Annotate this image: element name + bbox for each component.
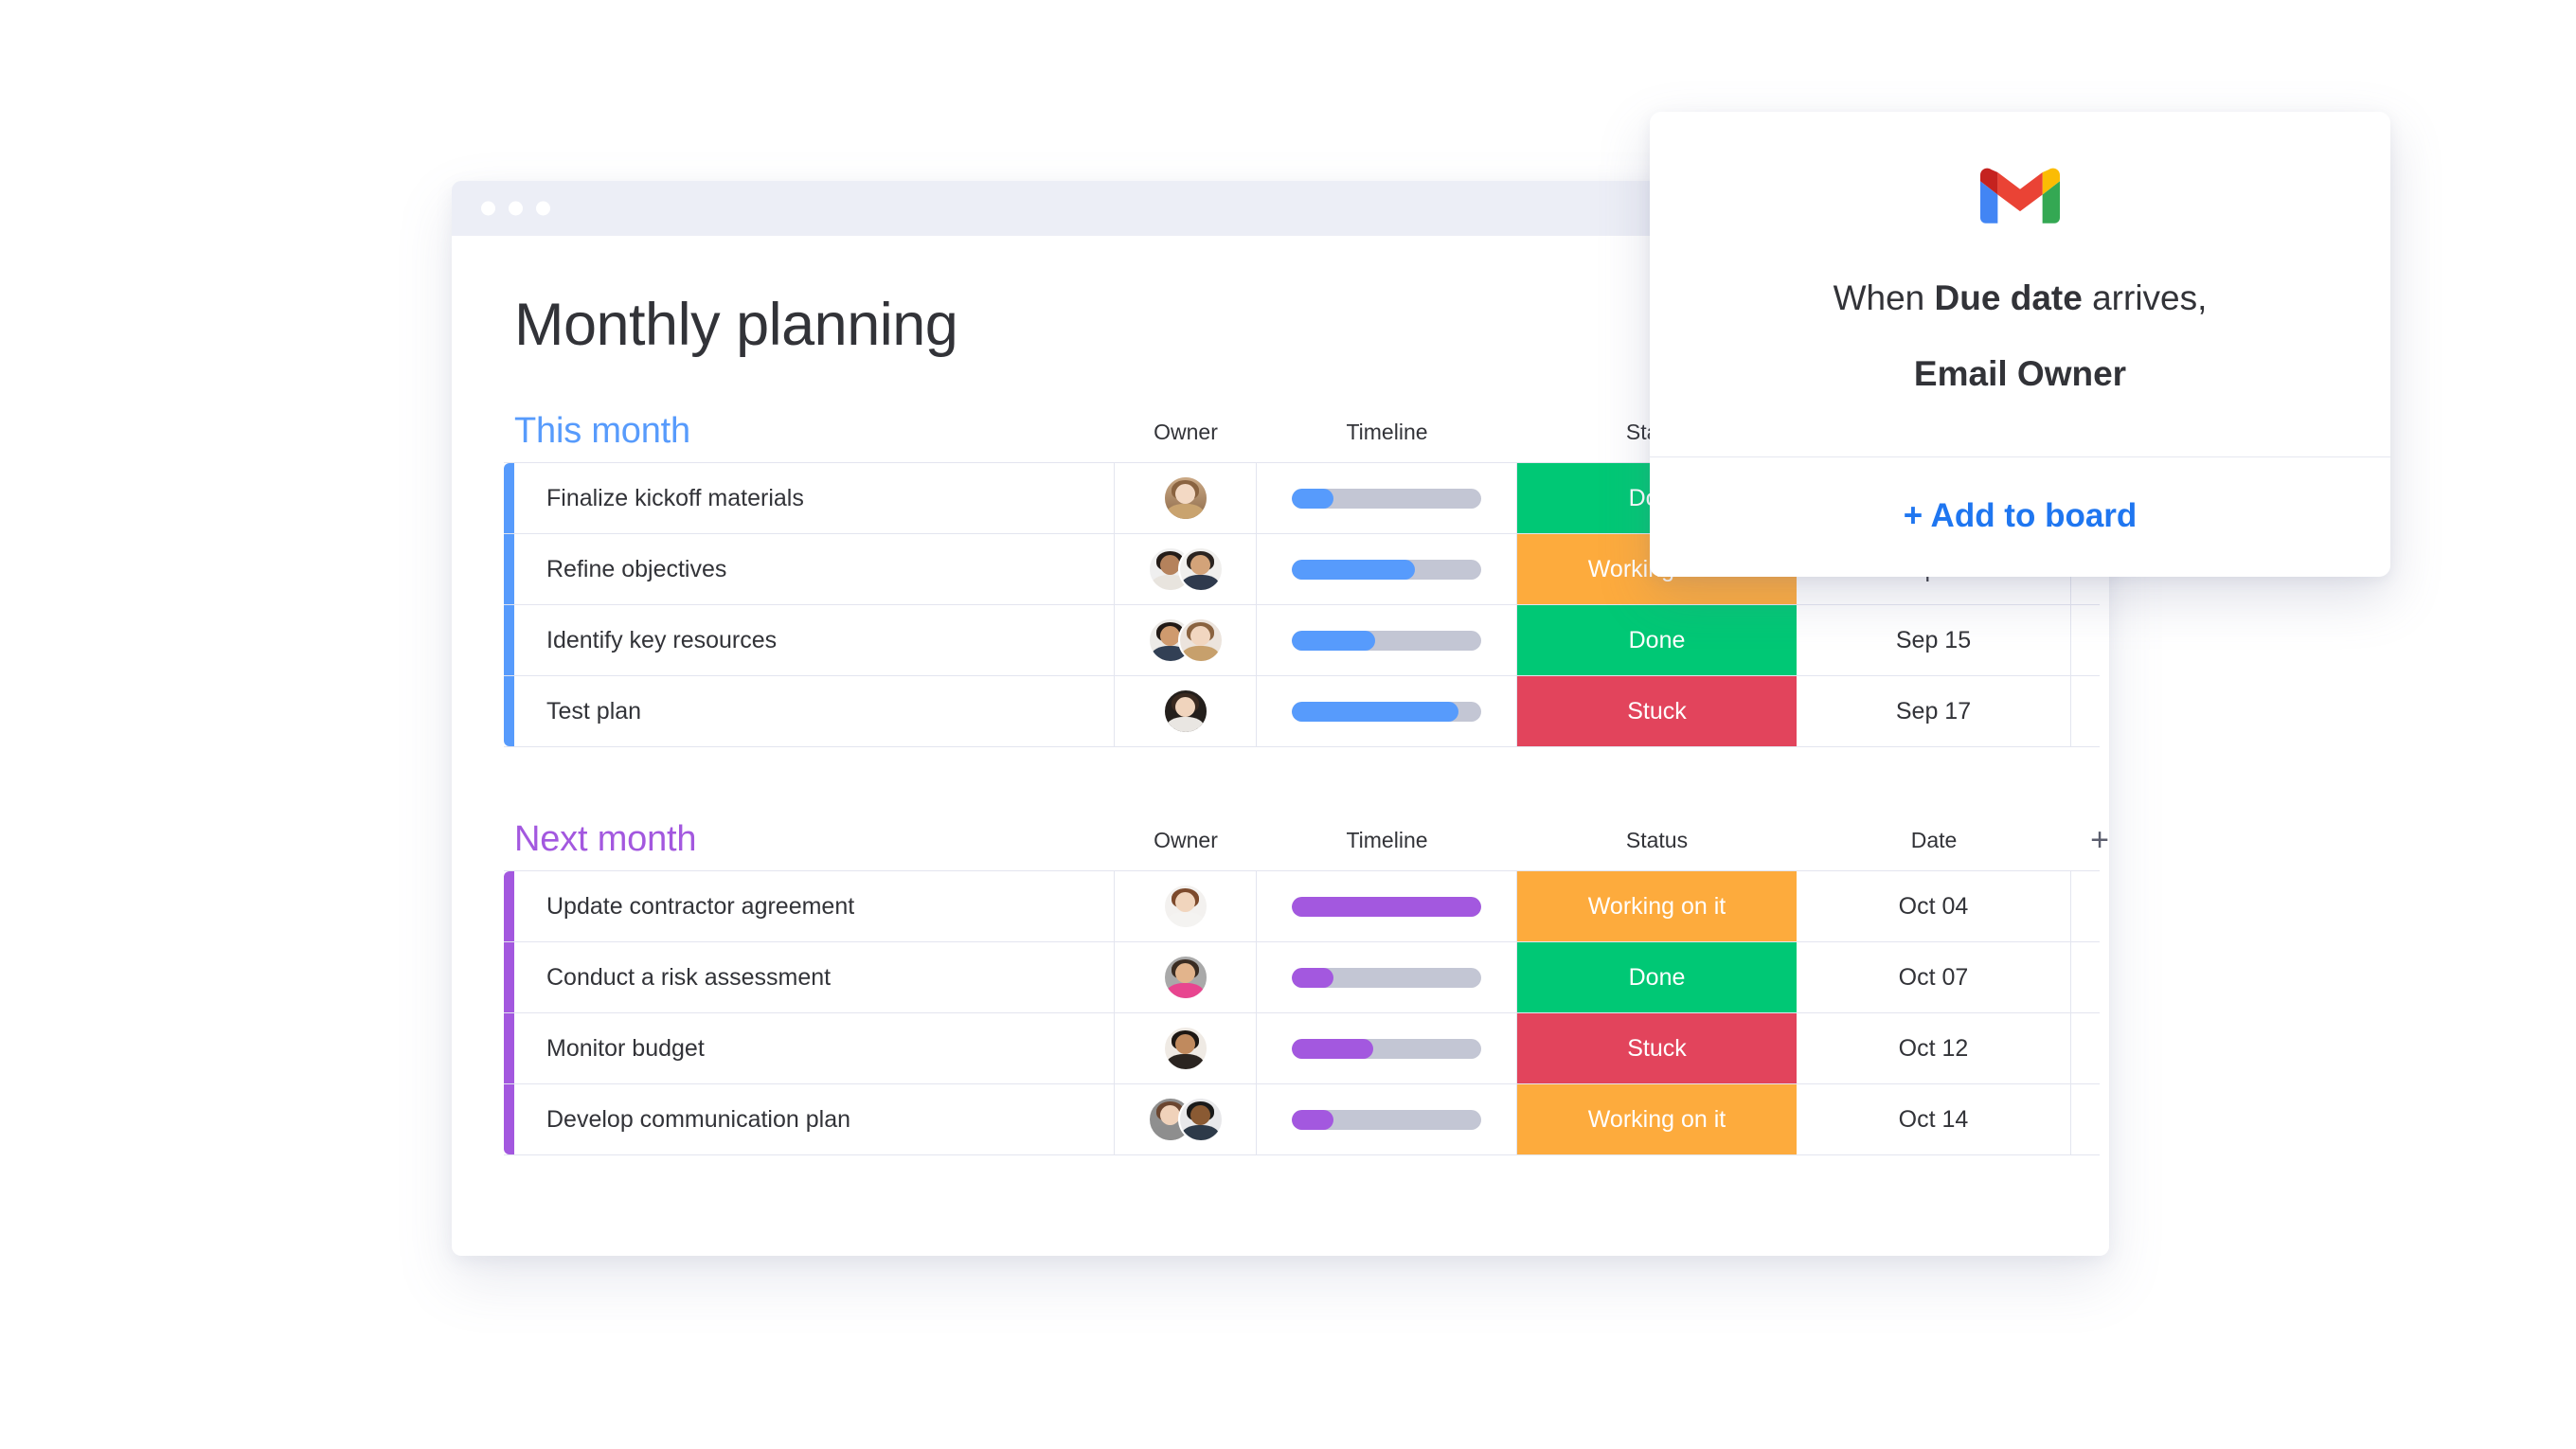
timeline-cell[interactable] <box>1257 1084 1517 1154</box>
task-name[interactable]: Finalize kickoff materials <box>514 463 1115 533</box>
row-accent-bar <box>504 534 514 604</box>
table-row[interactable]: Monitor budget <box>504 1013 2100 1084</box>
owner-cell[interactable] <box>1115 605 1257 675</box>
column-header-owner[interactable]: Owner <box>1115 420 1257 449</box>
table-row[interactable]: Test plan <box>504 676 2100 747</box>
row-accent-bar <box>504 871 514 941</box>
task-name[interactable]: Test plan <box>514 676 1115 746</box>
row-accent-bar <box>504 605 514 675</box>
avatar-group <box>1148 1097 1224 1142</box>
group-next-month: Next month Owner Timeline Status Date + … <box>452 821 2109 1155</box>
trigger-prefix: When <box>1834 278 1935 317</box>
timeline-bar-fill <box>1292 631 1375 651</box>
avatar <box>1163 955 1208 1000</box>
avatar-group <box>1163 1026 1208 1071</box>
empty-cell[interactable] <box>2071 942 2109 1012</box>
trigger-bold-field: Due date <box>1935 278 2083 317</box>
group-table-next-month: Update contractor agreement <box>504 870 2100 1155</box>
group-title-next-month[interactable]: Next month <box>514 821 1115 857</box>
status-badge[interactable]: Stuck <box>1517 676 1797 746</box>
timeline-cell[interactable] <box>1257 1013 1517 1083</box>
row-accent-bar <box>504 463 514 533</box>
empty-cell[interactable] <box>2071 605 2109 675</box>
avatar <box>1163 689 1208 734</box>
row-accent-bar <box>504 1084 514 1154</box>
automation-trigger-text: When Due date arrives, <box>1688 275 2352 322</box>
date-cell[interactable]: Oct 12 <box>1797 1013 2071 1083</box>
table-row[interactable]: Develop communication plan <box>504 1084 2100 1155</box>
window-controls <box>481 202 550 216</box>
avatar <box>1163 884 1208 929</box>
owner-cell[interactable] <box>1115 676 1257 746</box>
automation-card-body: When Due date arrives, Email Owner <box>1650 112 2390 456</box>
automation-recipe-card: When Due date arrives, Email Owner + Add… <box>1650 112 2390 577</box>
empty-cell[interactable] <box>2071 676 2109 746</box>
timeline-cell[interactable] <box>1257 942 1517 1012</box>
timeline-bar-fill <box>1292 702 1458 722</box>
timeline-bar <box>1292 489 1481 509</box>
timeline-cell[interactable] <box>1257 871 1517 941</box>
timeline-bar-fill <box>1292 897 1481 917</box>
status-badge[interactable]: Working on it <box>1517 1084 1797 1154</box>
task-name[interactable]: Refine objectives <box>514 534 1115 604</box>
status-badge[interactable]: Working on it <box>1517 871 1797 941</box>
task-name[interactable]: Monitor budget <box>514 1013 1115 1083</box>
window-close-dot[interactable] <box>481 202 495 216</box>
date-cell[interactable]: Oct 14 <box>1797 1084 2071 1154</box>
column-header-date[interactable]: Date <box>1797 828 2071 857</box>
timeline-bar-fill <box>1292 489 1333 509</box>
column-header-status[interactable]: Status <box>1517 828 1797 857</box>
avatar-group <box>1163 955 1208 1000</box>
date-cell[interactable]: Oct 04 <box>1797 871 2071 941</box>
table-row[interactable]: Update contractor agreement <box>504 871 2100 942</box>
table-row[interactable]: Identify key resources <box>504 605 2100 676</box>
empty-cell[interactable] <box>2071 1084 2109 1154</box>
row-accent-bar <box>504 676 514 746</box>
table-row[interactable]: Conduct a risk assessment <box>504 942 2100 1013</box>
timeline-bar <box>1292 1110 1481 1130</box>
avatar-group <box>1163 689 1208 734</box>
timeline-bar-fill <box>1292 1110 1333 1130</box>
gmail-icon <box>1980 165 2060 225</box>
task-name[interactable]: Update contractor agreement <box>514 871 1115 941</box>
timeline-bar <box>1292 631 1481 651</box>
avatar <box>1163 475 1208 521</box>
owner-cell[interactable] <box>1115 871 1257 941</box>
timeline-cell[interactable] <box>1257 605 1517 675</box>
column-header-timeline[interactable]: Timeline <box>1257 420 1517 449</box>
automation-action-text: Email Owner <box>1688 350 2352 398</box>
status-badge[interactable]: Done <box>1517 605 1797 675</box>
add-column-button[interactable]: + <box>2071 828 2109 857</box>
timeline-cell[interactable] <box>1257 534 1517 604</box>
timeline-bar-fill <box>1292 1039 1373 1059</box>
status-badge[interactable]: Stuck <box>1517 1013 1797 1083</box>
avatar-group <box>1148 617 1224 663</box>
avatar-group <box>1163 475 1208 521</box>
trigger-suffix: arrives, <box>2083 278 2208 317</box>
owner-cell[interactable] <box>1115 942 1257 1012</box>
timeline-cell[interactable] <box>1257 463 1517 533</box>
group-header-row: Next month Owner Timeline Status Date + <box>452 821 2109 857</box>
column-header-owner[interactable]: Owner <box>1115 828 1257 857</box>
avatar <box>1178 617 1224 663</box>
status-badge[interactable]: Done <box>1517 942 1797 1012</box>
task-name[interactable]: Develop communication plan <box>514 1084 1115 1154</box>
avatar <box>1163 1026 1208 1071</box>
task-name[interactable]: Conduct a risk assessment <box>514 942 1115 1012</box>
task-name[interactable]: Identify key resources <box>514 605 1115 675</box>
timeline-bar-fill <box>1292 968 1333 988</box>
window-maximize-dot[interactable] <box>536 202 550 216</box>
timeline-bar <box>1292 560 1481 580</box>
owner-cell[interactable] <box>1115 1013 1257 1083</box>
avatar-group <box>1163 884 1208 929</box>
timeline-bar-fill <box>1292 560 1415 580</box>
add-to-board-button[interactable]: + Add to board <box>1650 457 2390 577</box>
owner-cell[interactable] <box>1115 1084 1257 1154</box>
date-cell[interactable]: Sep 17 <box>1797 676 2071 746</box>
avatar-group <box>1148 546 1224 592</box>
empty-cell[interactable] <box>2071 1013 2109 1083</box>
column-header-timeline[interactable]: Timeline <box>1257 828 1517 857</box>
owner-cell[interactable] <box>1115 534 1257 604</box>
date-cell[interactable]: Oct 07 <box>1797 942 2071 1012</box>
date-cell[interactable]: Sep 15 <box>1797 605 2071 675</box>
avatar <box>1178 1097 1224 1142</box>
timeline-cell[interactable] <box>1257 676 1517 746</box>
empty-cell[interactable] <box>2071 871 2109 941</box>
timeline-bar <box>1292 897 1481 917</box>
group-title-this-month[interactable]: This month <box>514 413 1115 449</box>
timeline-bar <box>1292 1039 1481 1059</box>
timeline-bar <box>1292 968 1481 988</box>
row-accent-bar <box>504 1013 514 1083</box>
timeline-bar <box>1292 702 1481 722</box>
row-accent-bar <box>504 942 514 1012</box>
avatar <box>1178 546 1224 592</box>
owner-cell[interactable] <box>1115 463 1257 533</box>
window-minimize-dot[interactable] <box>509 202 523 216</box>
